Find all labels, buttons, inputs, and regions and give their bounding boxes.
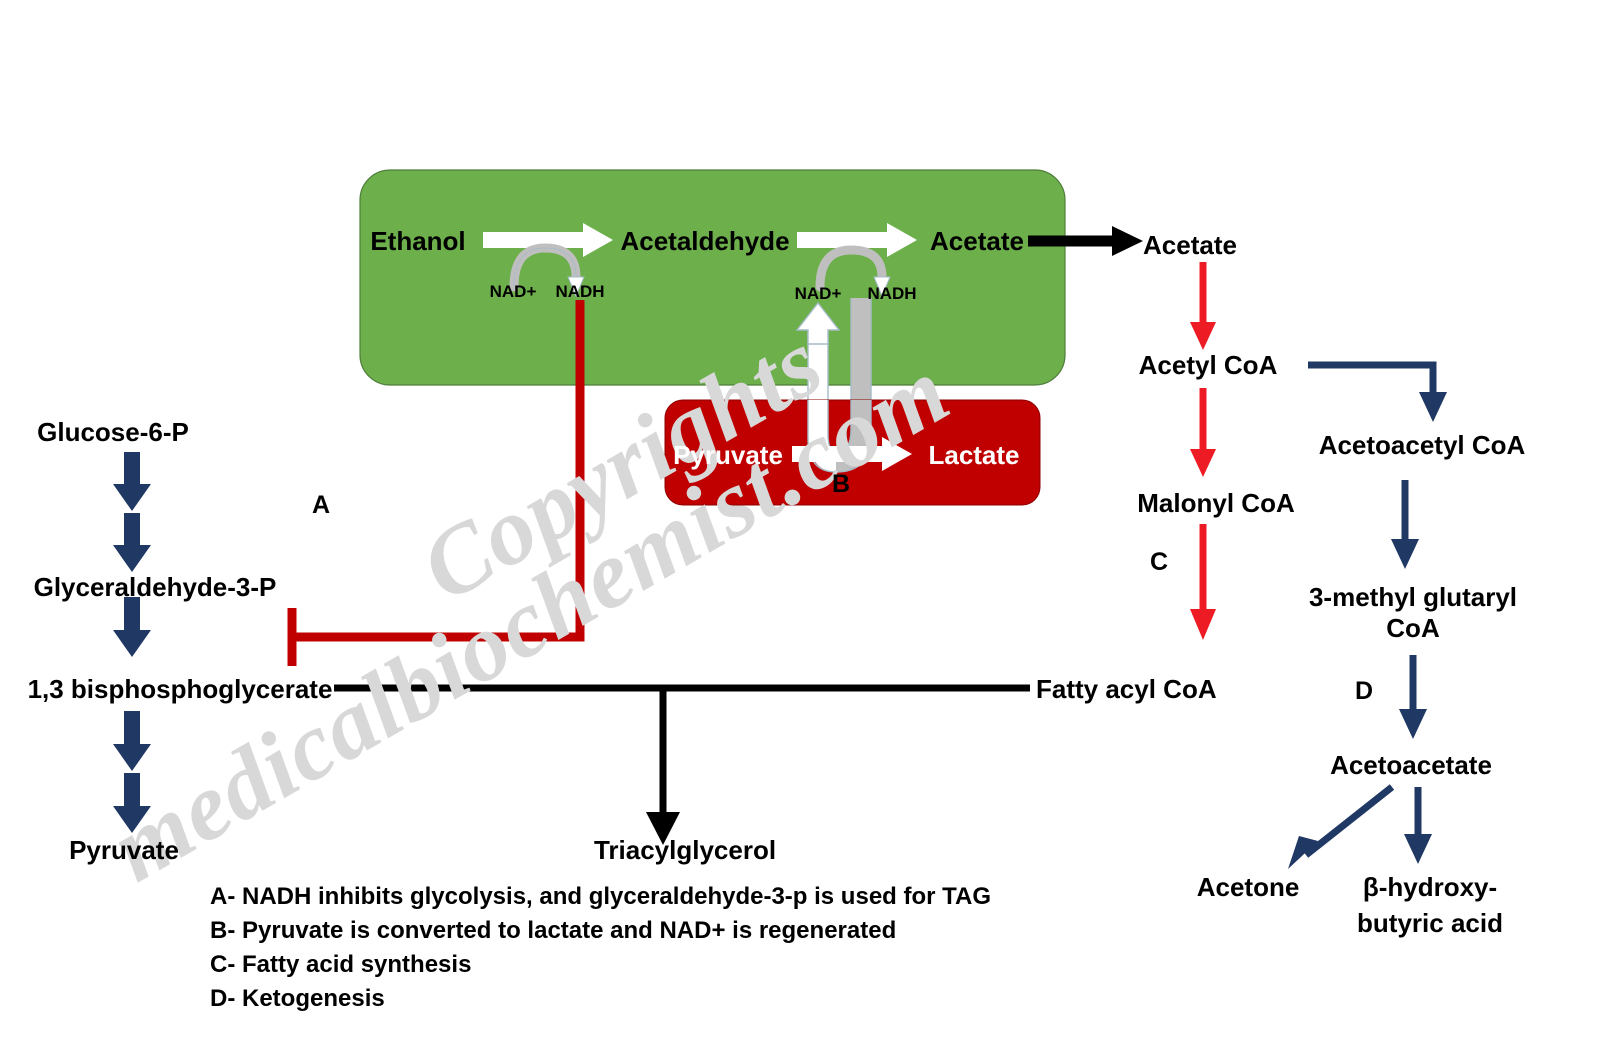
legend-item-b: B- Pyruvate is converted to lactate and … (210, 914, 991, 948)
cofactor-nadh-1: NADH (555, 282, 604, 302)
step-letter-a: A (312, 491, 330, 520)
node-fatty-acyl-coa: Fatty acyl CoA (1036, 674, 1217, 705)
node-acetate-cytosolic: Acetate (1143, 230, 1237, 261)
node-beta-hydroxybutyric-acid-line2: butyric acid (1357, 908, 1503, 939)
node-malonyl-coa: Malonyl CoA (1137, 488, 1294, 519)
diagram-canvas: Copyrights medicalbiochemist.com Ethanol… (0, 0, 1600, 1053)
node-3-methyl-glutaryl-coa-line2: CoA (1386, 613, 1439, 644)
node-glyceraldehyde-3-p: Glyceraldehyde-3-P (34, 572, 277, 603)
ethanol-oxidation-box-shape (360, 170, 1065, 385)
step-letter-b: B (832, 470, 850, 499)
node-triacylglycerol: Triacylglycerol (594, 835, 776, 866)
node-3-methyl-glutaryl-coa-line1: 3-methyl glutaryl (1309, 582, 1517, 613)
legend-item-d: D- Ketogenesis (210, 982, 991, 1016)
lipogenesis-arrows (1190, 262, 1216, 640)
node-glucose-6-p: Glucose-6-P (37, 417, 189, 448)
node-1-3-bisphosphoglycerate: 1,3 bisphosphoglycerate (28, 674, 333, 705)
legend-item-a: A- NADH inhibits glycolysis, and glycera… (210, 880, 991, 914)
step-letter-c: C (1150, 548, 1168, 577)
legend-block: A- NADH inhibits glycolysis, and glycera… (210, 880, 991, 1016)
cofactor-nad-plus-2: NAD+ (795, 284, 842, 304)
cofactor-nad-plus-1: NAD+ (490, 282, 537, 302)
node-acetone: Acetone (1197, 872, 1300, 903)
cofactor-nadh-2: NADH (867, 284, 916, 304)
node-acetyl-coa: Acetyl CoA (1139, 350, 1278, 381)
legend-item-c: C- Fatty acid synthesis (210, 948, 991, 982)
node-pyruvate: Pyruvate (69, 835, 179, 866)
glycolysis-arrows (113, 452, 151, 833)
node-lactate: Lactate (928, 440, 1019, 471)
node-pyruvate-box: Pyruvate (673, 440, 783, 471)
node-acetoacetate: Acetoacetate (1330, 750, 1492, 781)
node-acetate-intracellular: Acetate (930, 226, 1024, 257)
step-letter-d: D (1355, 677, 1373, 706)
node-acetaldehyde: Acetaldehyde (620, 226, 789, 257)
tag-junction-lines (334, 688, 1030, 845)
node-beta-hydroxybutyric-acid-line1: β-hydroxy- (1363, 872, 1497, 903)
node-acetoacetyl-coa: Acetoacetyl CoA (1319, 430, 1526, 461)
node-ethanol: Ethanol (370, 226, 465, 257)
